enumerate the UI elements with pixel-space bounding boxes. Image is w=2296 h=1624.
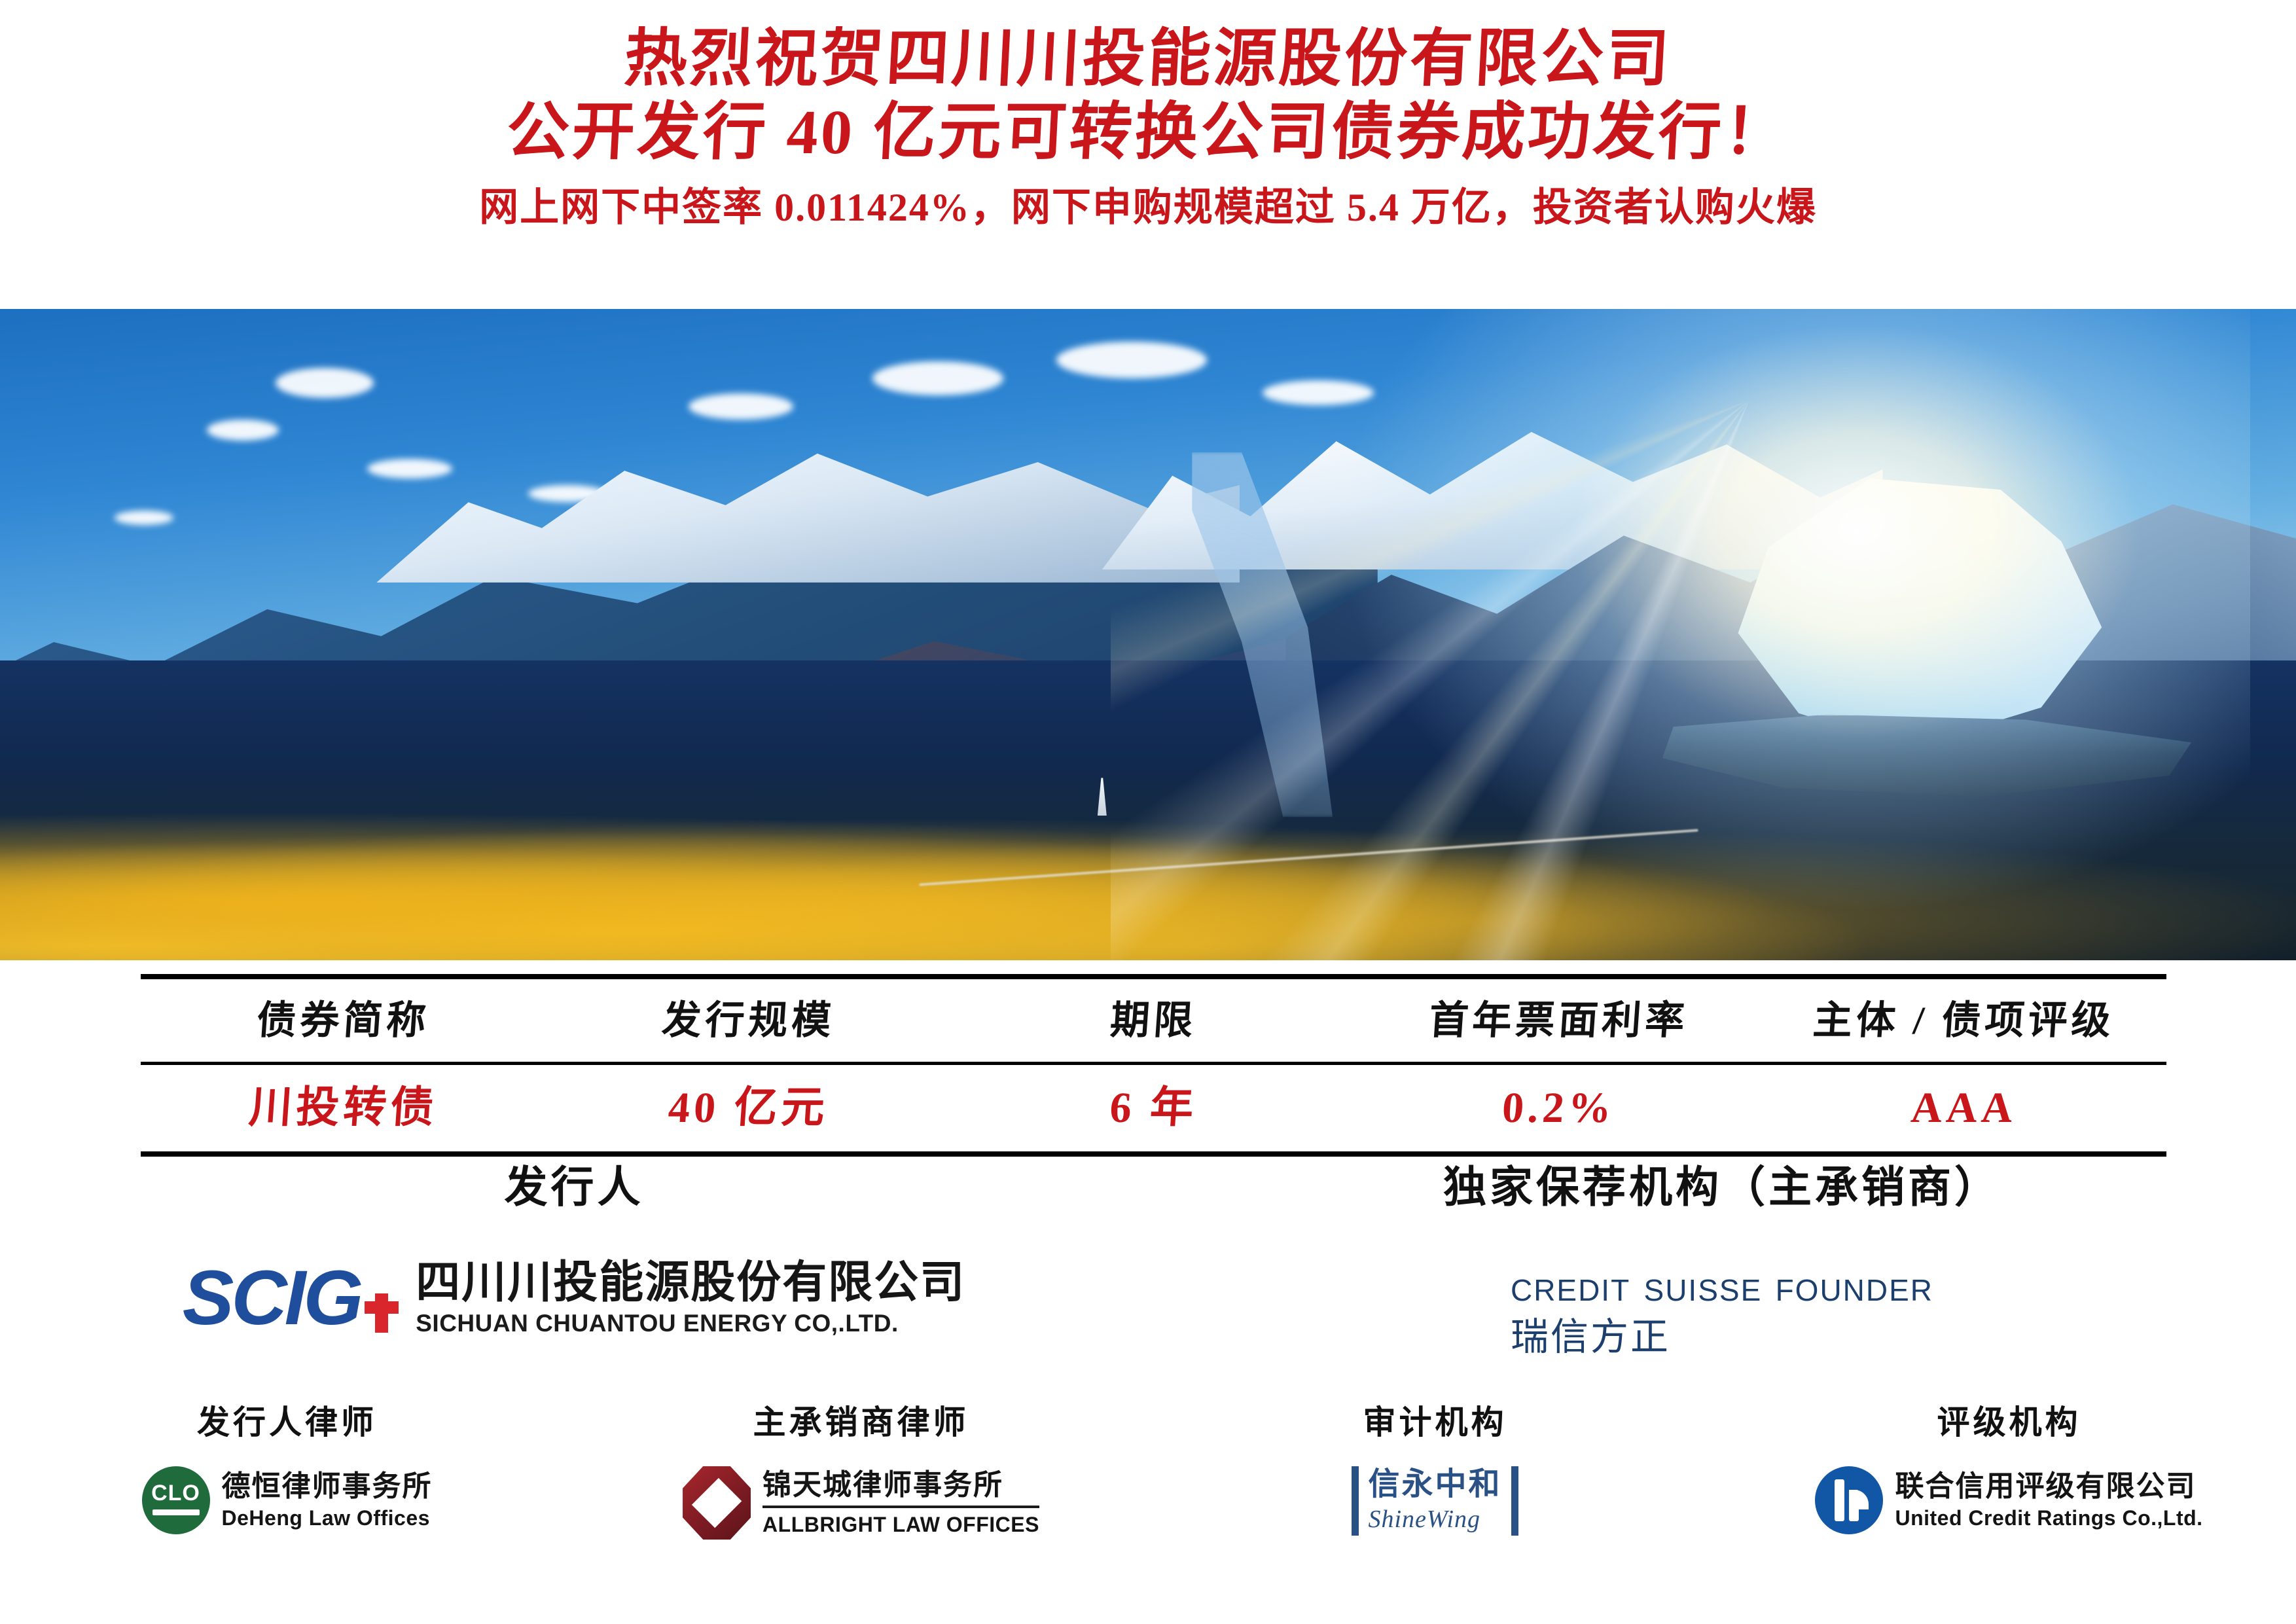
table-value-coupon: 0.2% [1353, 1065, 1764, 1151]
table-header-tenor: 期限 [948, 979, 1359, 1062]
issuer-title: 发行人 [0, 1159, 1148, 1215]
scig-logo-icon: SCIG [183, 1259, 399, 1337]
issuer-name-en: SICHUAN CHUANTOU ENERGY CO,.LTD. [416, 1308, 965, 1339]
shinewing-bars-icon: 信永中和 ShineWing [1352, 1466, 1518, 1536]
left-bar [1352, 1466, 1359, 1536]
advisor-names: 锦天城律师事务所 ALLBRIGHT LAW OFFICES [762, 1468, 1039, 1538]
table-bottom-rule [141, 1151, 2166, 1157]
table-header-issue-size: 发行规模 [543, 979, 954, 1062]
cloud-icon [207, 420, 279, 441]
monogram-hook [1849, 1490, 1869, 1509]
sponsor-name-cn: 瑞信方正 [1511, 1313, 1933, 1362]
advisor-name-en: ShineWing [1368, 1503, 1501, 1536]
advisor-rating-agency: 评级机构 联合信用评级有限公司 United Credit Ratings Co… [1722, 1401, 2296, 1540]
deheng-seal-icon [142, 1466, 210, 1534]
party-issuer: 发行人 SCIG 四川川投能源股份有限公司 SICHUAN CHUANTOU E… [0, 1159, 1148, 1362]
scig-cross-icon [365, 1293, 399, 1333]
advisor-auditor: 审计机构 信永中和 ShineWing [1148, 1401, 1722, 1540]
sponsor-title: 独家保荐机构（主承销商） [1148, 1159, 2296, 1215]
parties-row: 发行人 SCIG 四川川投能源股份有限公司 SICHUAN CHUANTOU E… [0, 1159, 2296, 1362]
allbright-logo: 锦天城律师事务所 ALLBRIGHT LAW OFFICES [574, 1466, 1148, 1540]
table-header-row: 债券简称 发行规模 期限 首年票面利率 主体 / 债项评级 [141, 979, 2166, 1062]
cloud-icon [367, 459, 452, 478]
advisor-name-cn: 联合信用评级有限公司 [1895, 1469, 2202, 1504]
advisor-title: 审计机构 [1148, 1401, 1722, 1444]
table-value-tenor: 6 年 [948, 1065, 1359, 1151]
advisor-name-cn: 锦天城律师事务所 [762, 1468, 1039, 1503]
cloud-icon [276, 368, 374, 398]
advisor-names: 联合信用评级有限公司 United Credit Ratings Co.,Ltd… [1895, 1469, 2202, 1532]
table-header-coupon: 首年票面利率 [1354, 979, 1765, 1062]
issuer-names: 四川川投能源股份有限公司 SICHUAN CHUANTOU ENERGY CO,… [416, 1257, 965, 1339]
allbright-octagon-icon [683, 1466, 751, 1540]
table-value-issue-size: 40 亿元 [543, 1065, 954, 1151]
table-value-bond-name: 川投转债 [137, 1065, 548, 1151]
issuer-logo: SCIG 四川川投能源股份有限公司 SICHUAN CHUANTOU ENERG… [0, 1257, 1148, 1339]
table-top-rule [141, 974, 2166, 979]
advisor-issuer-counsel: 发行人律师 德恒律师事务所 DeHeng Law Offices [0, 1401, 574, 1540]
advisor-name-en: DeHeng Law Offices [222, 1504, 433, 1532]
advisor-names: 信永中和 ShineWing [1368, 1466, 1501, 1536]
sponsor-logo: Credit Suisse Founder 瑞信方正 [1511, 1261, 1933, 1362]
advisor-underwriter-counsel: 主承销商律师 锦天城律师事务所 ALLBRIGHT LAW OFFICES [574, 1401, 1148, 1540]
table-header-rating: 主体 / 债项评级 [1759, 979, 2170, 1062]
announcement-poster: 热烈祝贺四川川投能源股份有限公司 公开发行 40 亿元可转换公司债券成功发行！ … [0, 0, 2296, 1624]
deheng-logo: 德恒律师事务所 DeHeng Law Offices [0, 1466, 574, 1534]
headline-block: 热烈祝贺四川川投能源股份有限公司 公开发行 40 亿元可转换公司债券成功发行！ … [0, 22, 2296, 236]
advisor-title: 主承销商律师 [574, 1401, 1148, 1444]
advisor-title: 评级机构 [1722, 1401, 2296, 1444]
headline-line-2: 公开发行 40 亿元可转换公司债券成功发行！ [0, 96, 2296, 169]
advisor-name-cn: 信永中和 [1368, 1466, 1501, 1503]
shinewing-logo: 信永中和 ShineWing [1148, 1466, 1722, 1536]
united-credit-logo: 联合信用评级有限公司 United Credit Ratings Co.,Ltd… [1722, 1466, 2296, 1534]
issuer-name-cn: 四川川投能源股份有限公司 [416, 1257, 965, 1308]
sun-rays [1111, 322, 1929, 960]
table-value-row: 川投转债 40 亿元 6 年 0.2% AAA [141, 1065, 2166, 1151]
party-sponsor: 独家保荐机构（主承销商） Credit Suisse Founder 瑞信方正 [1148, 1159, 2296, 1362]
bond-summary-table: 债券简称 发行规模 期限 首年票面利率 主体 / 债项评级 川投转债 40 亿元… [141, 974, 2166, 1157]
advisor-names: 德恒律师事务所 DeHeng Law Offices [222, 1469, 433, 1532]
table-header-bond-name: 债券简称 [138, 979, 549, 1062]
united-credit-circle-icon [1815, 1466, 1883, 1534]
hero-photo [0, 309, 2296, 960]
advisors-row: 发行人律师 德恒律师事务所 DeHeng Law Offices 主承销商律师 … [0, 1401, 2296, 1540]
advisor-title: 发行人律师 [0, 1401, 574, 1444]
advisor-name-en: ALLBRIGHT LAW OFFICES [762, 1511, 1039, 1538]
sponsor-name-en: Credit Suisse Founder [1511, 1261, 1933, 1310]
scig-wordmark: SCIG [183, 1259, 361, 1337]
advisor-name-cn: 德恒律师事务所 [222, 1469, 433, 1504]
headline-subline: 网上网下中签率 0.011424%，网下申购规模超过 5.4 万亿，投资者认购火… [0, 179, 2296, 236]
advisor-name-en: United Credit Ratings Co.,Ltd. [1895, 1504, 2202, 1532]
divider [762, 1506, 1039, 1508]
right-bar [1511, 1466, 1518, 1536]
table-value-rating: AAA [1758, 1065, 2169, 1151]
headline-line-1: 热烈祝贺四川川投能源股份有限公司 [0, 22, 2296, 96]
cloud-icon [872, 361, 1003, 395]
